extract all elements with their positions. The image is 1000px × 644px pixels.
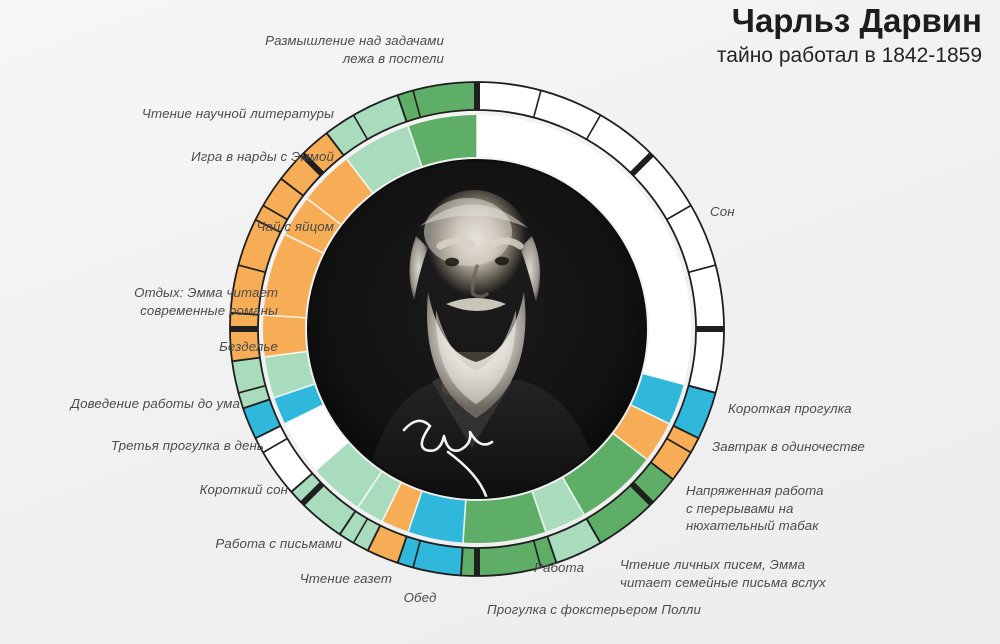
wheel-label-backgammon: Игра в нарды с Эммой bbox=[114, 148, 334, 166]
wheel-label-emma-novels: Отдых: Эмма читает современные романы bbox=[58, 284, 278, 319]
hour-ring-segment-polly-walk bbox=[398, 536, 463, 575]
activity-segment-work bbox=[463, 492, 546, 543]
wheel-label-polly-walk: Прогулка с фокстерьером Полли bbox=[487, 601, 755, 619]
page-title: Чарльз Дарвин bbox=[562, 2, 982, 40]
wheel-label-short-nap: Короткий сон bbox=[156, 481, 288, 499]
wheel-label-letter-work: Работа с письмами bbox=[178, 535, 342, 553]
wheel-label-breakfast: Завтрак в одиночестве bbox=[712, 438, 892, 456]
wheel-label-idleness: Безделье bbox=[108, 338, 278, 356]
infographic-root: Чарльз Дарвин тайно работал в 1842-1859 … bbox=[0, 0, 1000, 644]
title-block: Чарльз Дарвин тайно работал в 1842-1859 bbox=[562, 2, 982, 68]
wheel-label-hard-work: Напряженная работа с перерывами на нюхат… bbox=[686, 482, 866, 535]
wheel-label-tea-egg: Чай с яйцом bbox=[144, 218, 334, 236]
wheel-label-lunch: Обед bbox=[396, 589, 444, 607]
wheel-label-finish-work: Доведение работы до ума bbox=[32, 395, 240, 413]
wheel-label-science-read: Чтение научной литературы bbox=[104, 105, 334, 123]
wheel-label-work: Работа bbox=[534, 559, 598, 577]
page-subtitle: тайно работал в 1842-1859 bbox=[562, 43, 982, 68]
wheel-label-sleep-night: Сон bbox=[710, 203, 750, 221]
daily-routine-wheel bbox=[0, 0, 1000, 644]
wheel-label-letters-read: Чтение личных писем, Эмма читает семейны… bbox=[620, 556, 860, 591]
wheel-label-bed-thinking: Размышление над задачами лежа в постели bbox=[248, 32, 444, 67]
wheel-label-third-walk: Третья прогулка в день bbox=[72, 437, 264, 455]
wheel-label-newspapers: Чтение газет bbox=[272, 570, 392, 588]
wheel-label-short-walk: Короткая прогулка bbox=[728, 400, 878, 418]
